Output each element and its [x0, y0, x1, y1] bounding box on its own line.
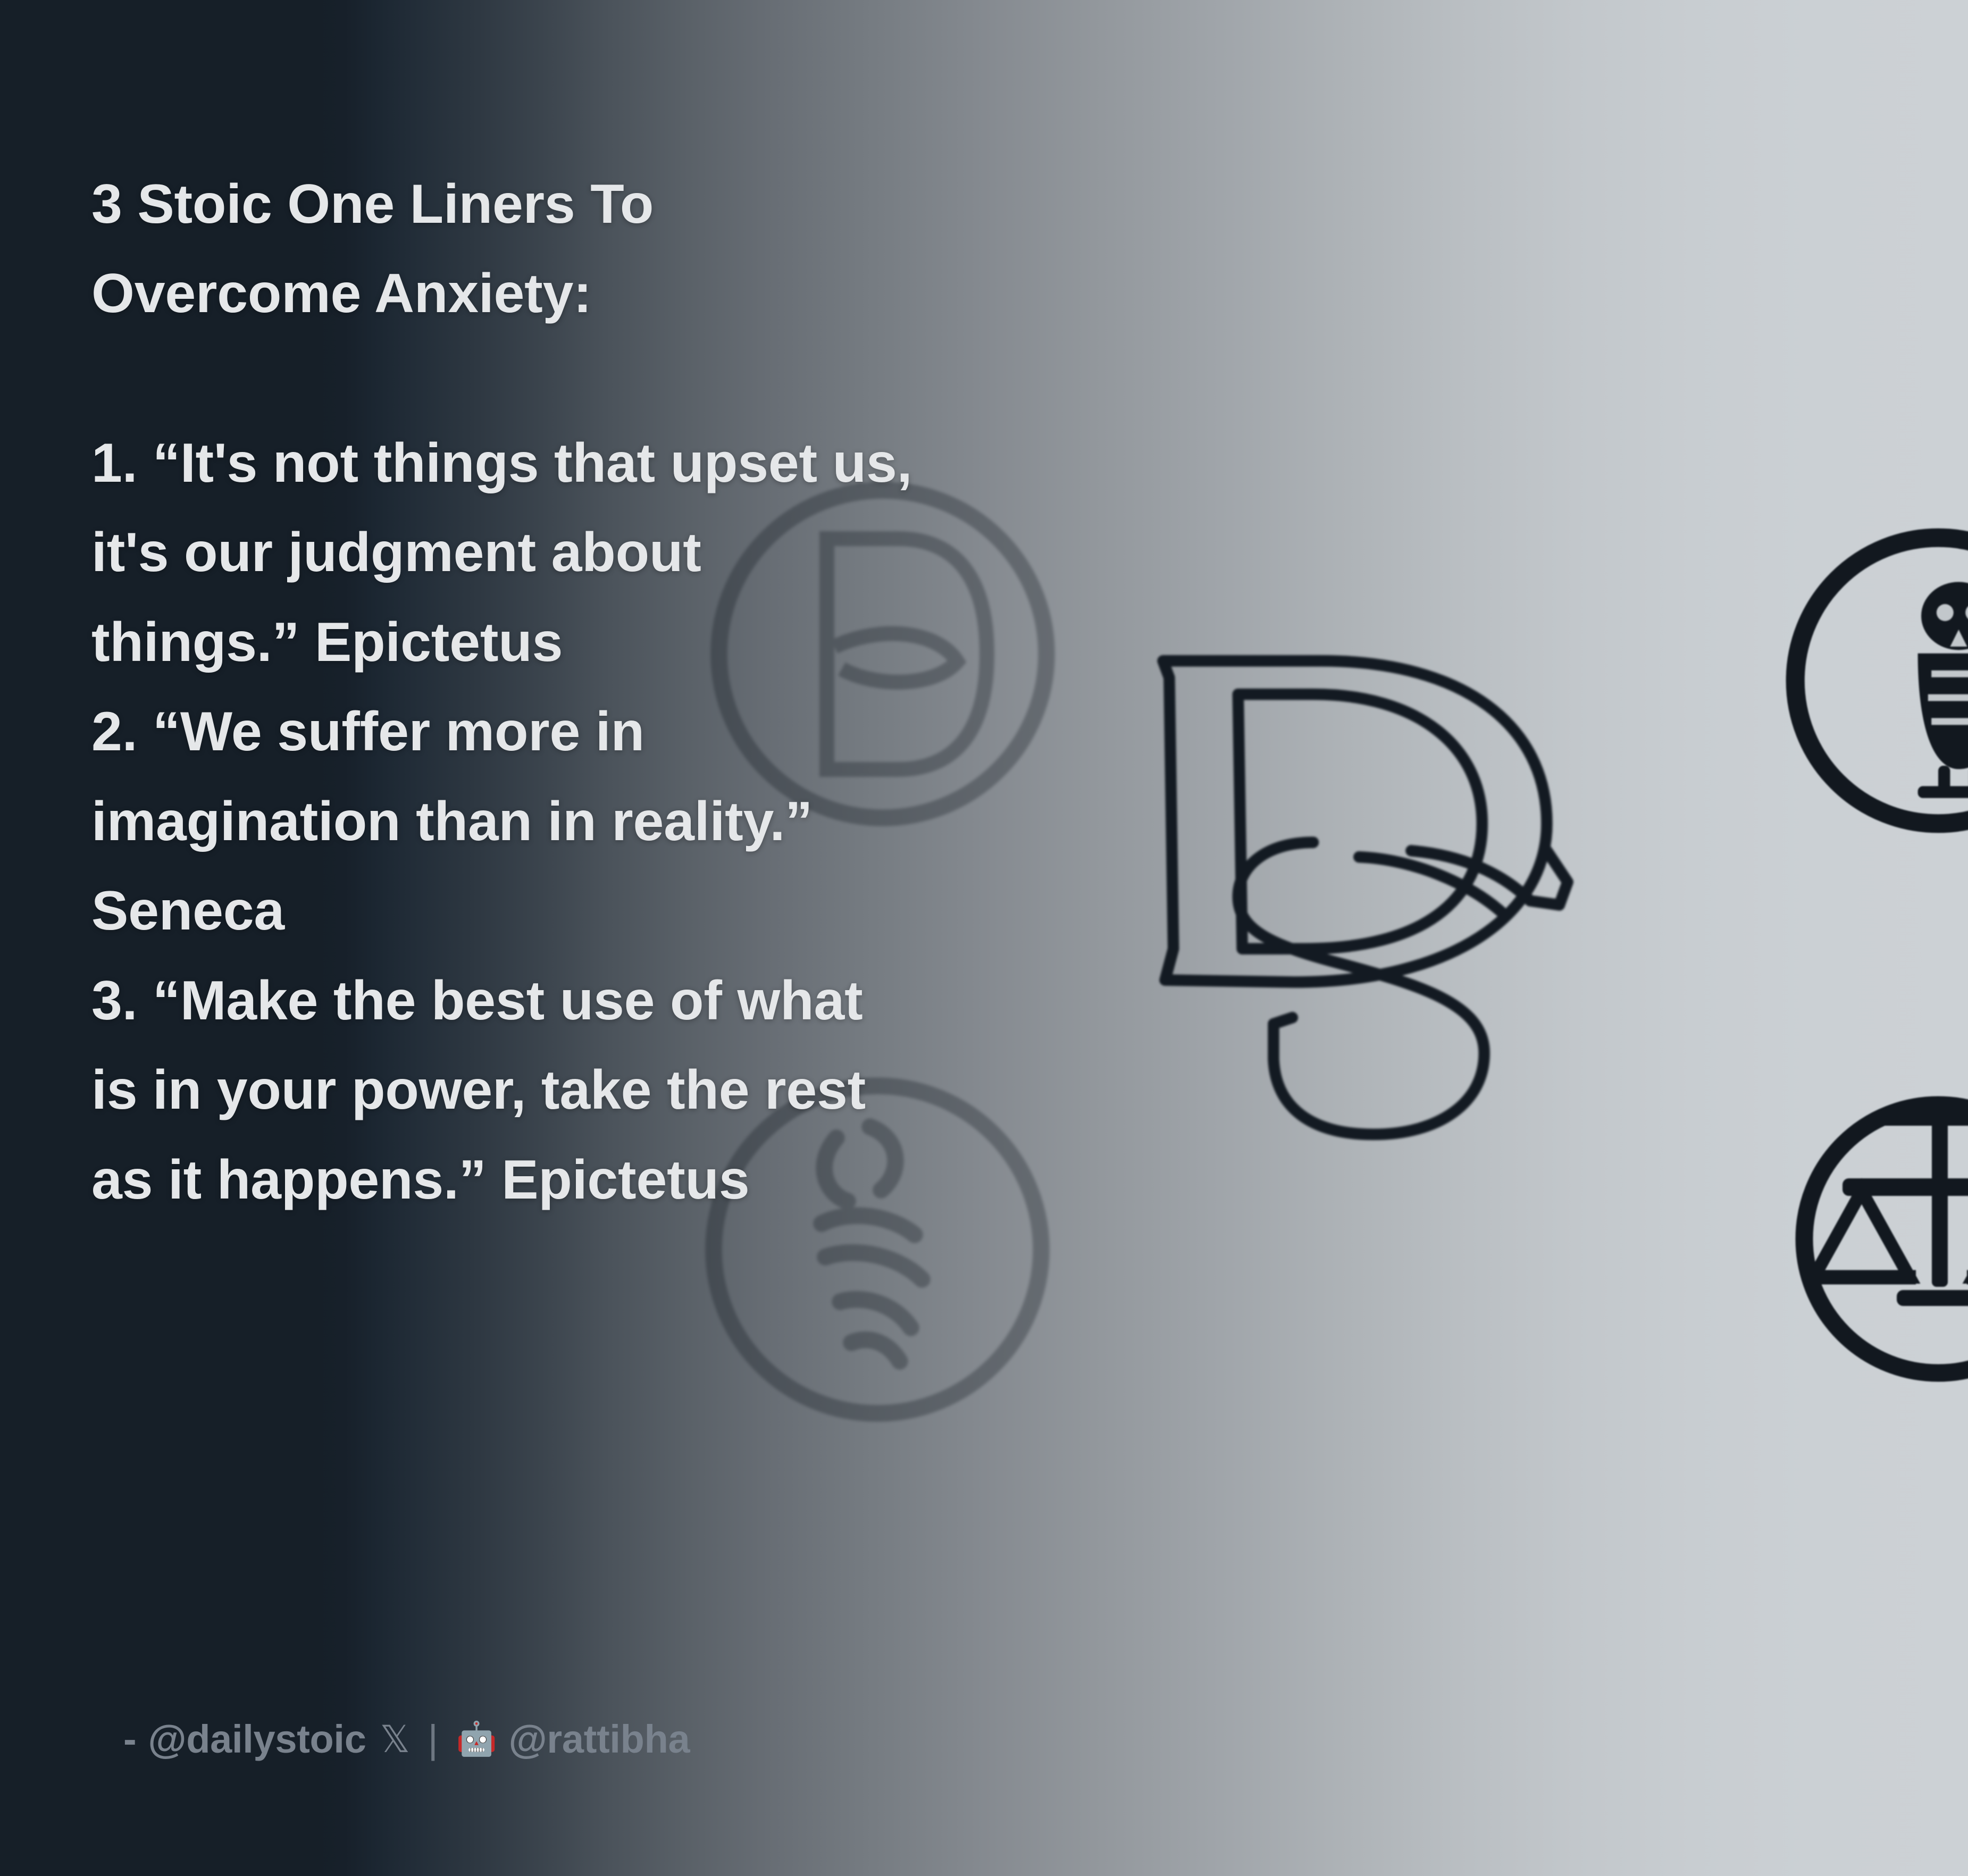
quote-content: 3 Stoic One Liners To Overcome Anxiety: …	[91, 160, 1251, 1225]
footer-separator: |	[428, 1716, 438, 1762]
attribution-dash: -	[123, 1716, 136, 1762]
source-handle[interactable]: @rattibha	[509, 1716, 690, 1762]
quote-item-1: 1. “It's not things that upset us, it's …	[91, 418, 1251, 687]
author-handle[interactable]: @dailystoic	[148, 1716, 366, 1762]
quote-item-2: 2. “We suffer more in imagination than i…	[91, 687, 1251, 956]
page-title: 3 Stoic One Liners To Overcome Anxiety:	[91, 160, 1251, 339]
x-logo-icon: 𝕏	[380, 1718, 410, 1761]
robot-icon: 🤖	[456, 1720, 497, 1758]
quote-card: 3 Stoic One Liners To Overcome Anxiety: …	[0, 0, 1968, 1876]
quote-item-3: 3. “Make the best use of what is in your…	[91, 956, 1251, 1225]
owl-seal-icon	[1768, 510, 1968, 851]
title-body-spacer	[91, 339, 1251, 418]
attribution-footer: - @dailystoic 𝕏 | 🤖 @rattibha	[123, 1716, 690, 1762]
scales-of-justice-seal-icon	[1779, 1079, 1968, 1398]
quote-list: 1. “It's not things that upset us, it's …	[91, 418, 1251, 1225]
